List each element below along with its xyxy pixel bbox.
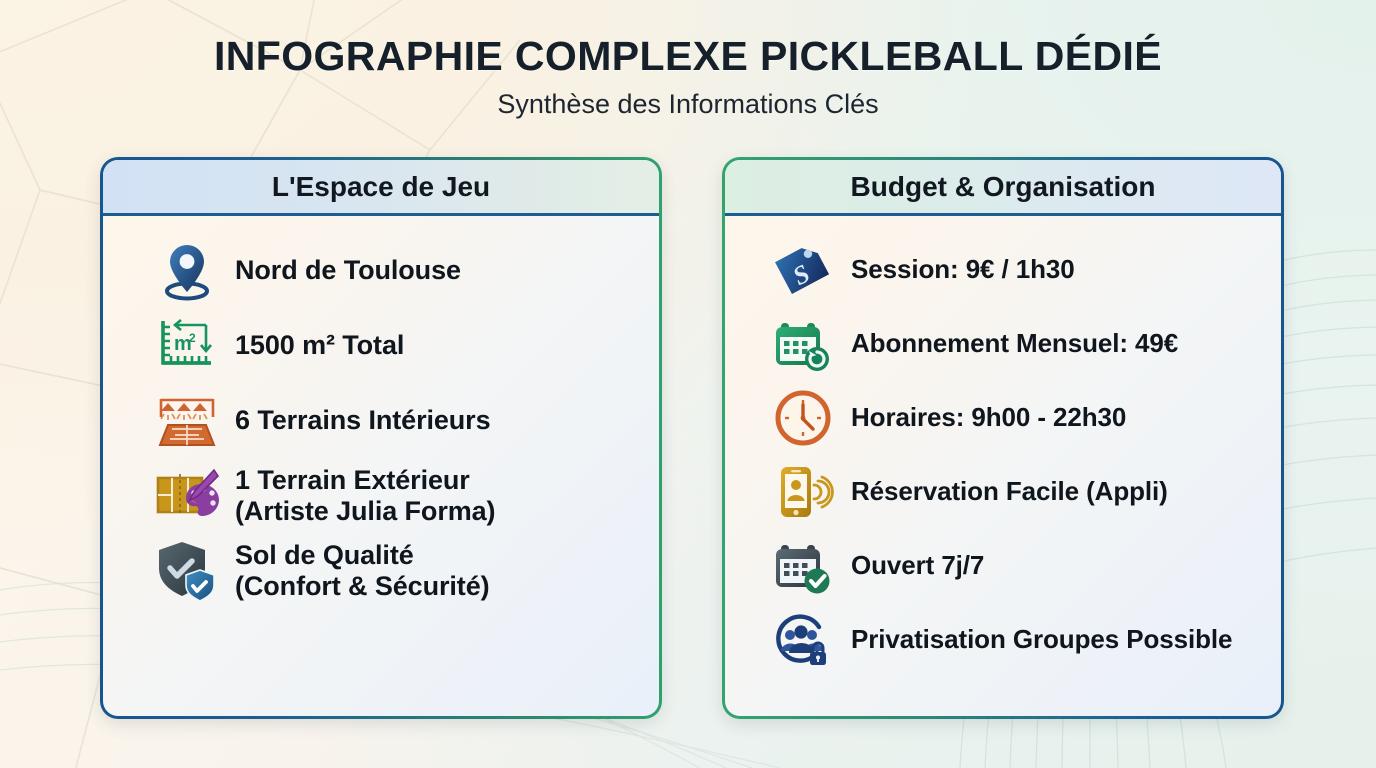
list-item-label: Ouvert 7j/7 xyxy=(839,551,984,580)
list-item-label: Horaires: 9h00 - 22h30 xyxy=(839,403,1126,432)
card-budget-organisation: Budget & Organisation S xyxy=(722,157,1284,719)
list-item[interactable]: Horaires: 9h00 - 22h30 xyxy=(725,381,1281,455)
price-tag-icon: S xyxy=(767,238,839,302)
list-item[interactable]: Réservation Facile (Appli) xyxy=(725,455,1281,529)
list-item[interactable]: 1 Terrain Extérieur (Artiste Julia Forma… xyxy=(103,458,659,533)
list-item-label: Réservation Facile (Appli) xyxy=(839,477,1168,506)
list-item[interactable]: 6 Terrains Intérieurs xyxy=(103,383,659,458)
outdoor-court-art-icon xyxy=(151,464,223,528)
card-body-budget-organisation: S Session: 9€ / 1h30 xyxy=(725,216,1281,716)
area-measure-icon: m 2 xyxy=(151,314,223,378)
list-item[interactable]: Ouvert 7j/7 xyxy=(725,529,1281,603)
group-lock-icon xyxy=(767,608,839,672)
page-subtitle: Synthèse des Informations Clés xyxy=(0,80,1376,120)
list-item[interactable]: S Session: 9€ / 1h30 xyxy=(725,233,1281,307)
card-inner: L'Espace de Jeu Nord de Tou xyxy=(103,160,659,716)
list-item-label: Privatisation Groupes Possible xyxy=(839,625,1232,654)
calendar-refresh-icon xyxy=(767,312,839,376)
list-item-label: 1 Terrain Extérieur (Artiste Julia Forma… xyxy=(223,465,495,525)
list-item-label: Session: 9€ / 1h30 xyxy=(839,255,1075,284)
card-inner: Budget & Organisation S xyxy=(725,160,1281,716)
list-item[interactable]: Privatisation Groupes Possible xyxy=(725,603,1281,677)
list-item-label: Nord de Toulouse xyxy=(223,255,461,285)
calendar-check-icon xyxy=(767,534,839,598)
shield-check-icon xyxy=(151,539,223,603)
mobile-app-icon xyxy=(767,460,839,524)
card-espace-de-jeu: L'Espace de Jeu Nord de Tou xyxy=(100,157,662,719)
svg-text:2: 2 xyxy=(189,331,196,345)
list-item[interactable]: m 2 1500 m² Total xyxy=(103,308,659,383)
list-item-label: 1500 m² Total xyxy=(223,330,404,360)
page-title: INFOGRAPHIE COMPLEXE PICKLEBALL DÉDIÉ xyxy=(0,0,1376,80)
indoor-court-icon xyxy=(151,389,223,453)
card-title-espace-de-jeu: L'Espace de Jeu xyxy=(103,160,659,216)
list-item[interactable]: Abonnement Mensuel: 49€ xyxy=(725,307,1281,381)
clock-icon xyxy=(767,386,839,450)
card-title-budget-organisation: Budget & Organisation xyxy=(725,160,1281,216)
location-pin-icon xyxy=(151,239,223,303)
list-item[interactable]: Nord de Toulouse xyxy=(103,233,659,308)
list-item-label: Abonnement Mensuel: 49€ xyxy=(839,329,1178,358)
card-body-espace-de-jeu: Nord de Toulouse xyxy=(103,216,659,716)
page-header: INFOGRAPHIE COMPLEXE PICKLEBALL DÉDIÉ Sy… xyxy=(0,0,1376,120)
list-item-label: Sol de Qualité (Confort & Sécurité) xyxy=(223,540,490,600)
list-item[interactable]: Sol de Qualité (Confort & Sécurité) xyxy=(103,533,659,608)
list-item-label: 6 Terrains Intérieurs xyxy=(223,405,491,435)
